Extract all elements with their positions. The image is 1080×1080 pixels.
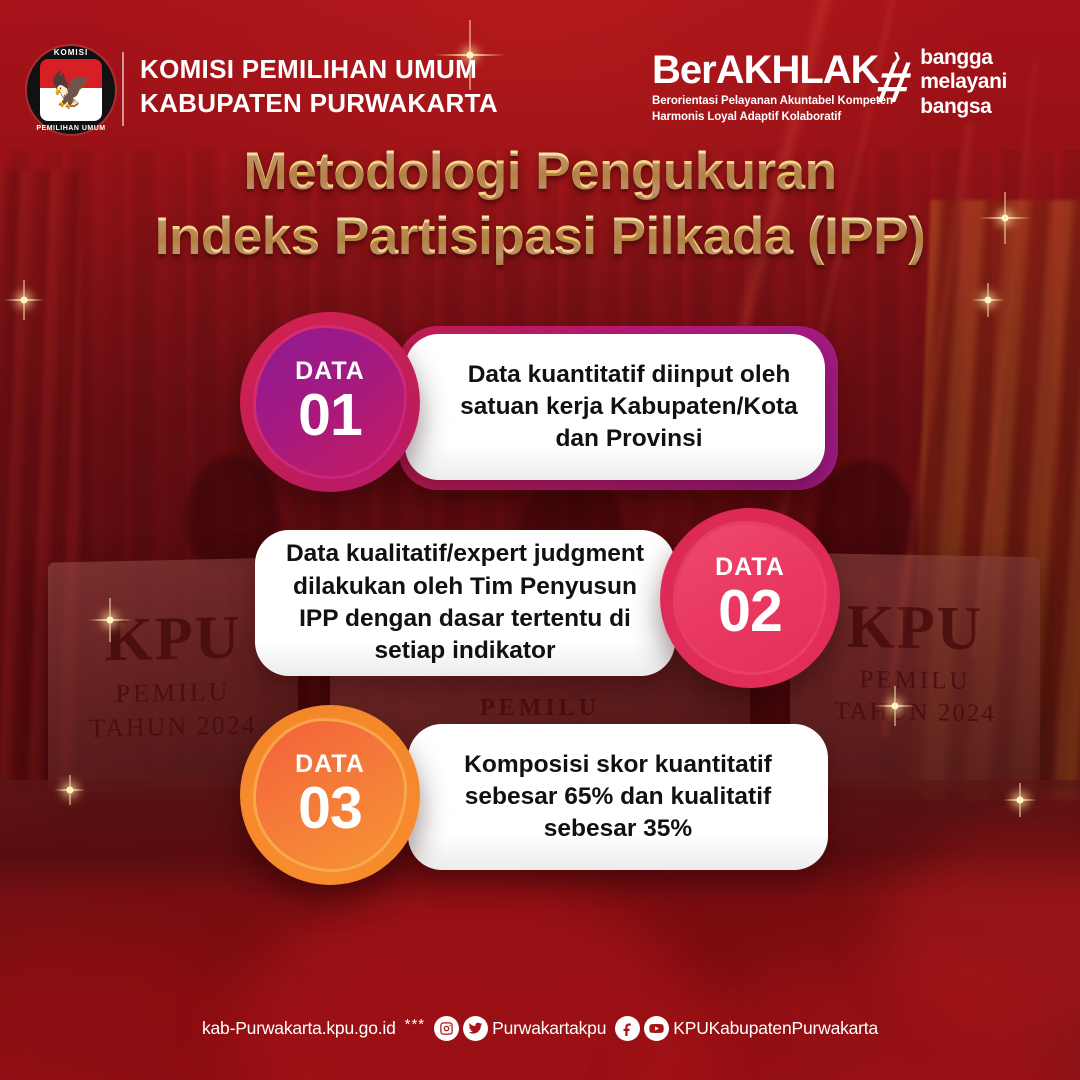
badge-number: 01 xyxy=(298,386,362,445)
badge-number: 03 xyxy=(298,779,362,838)
footer-separator: *** xyxy=(405,1016,426,1033)
data-cards-list: Data kuantitatif diinput oleh satuan ker… xyxy=(0,0,1080,1080)
social-group-2: KPUKabupatenPurwakarta xyxy=(615,1016,878,1041)
data-card-02: Data kualitatif/expert judgment dilakuka… xyxy=(240,508,840,698)
social-handle-1[interactable]: Purwakartakpu xyxy=(492,1018,606,1039)
instagram-icon[interactable] xyxy=(434,1016,459,1041)
card-badge: DATA 02 xyxy=(660,508,840,688)
data-card-01: Data kuantitatif diinput oleh satuan ker… xyxy=(240,312,840,502)
card-body: Data kuantitatif diinput oleh satuan ker… xyxy=(405,334,825,480)
social-group-1: Purwakartakpu xyxy=(434,1016,606,1041)
data-card-03: Komposisi skor kuantitatif sebesar 65% d… xyxy=(240,702,840,894)
facebook-icon[interactable] xyxy=(615,1016,640,1041)
card-badge: DATA 01 xyxy=(240,312,420,492)
card-badge: DATA 03 xyxy=(240,705,420,885)
youtube-icon[interactable] xyxy=(644,1016,669,1041)
badge-number: 02 xyxy=(718,582,782,641)
social-handle-2[interactable]: KPUKabupatenPurwakarta xyxy=(673,1018,878,1039)
card-text: Komposisi skor kuantitatif sebesar 65% d… xyxy=(408,749,828,846)
poster-canvas: KPU PEMILU TAHUN 2024 PEMILU KPU PEMILU … xyxy=(0,0,1080,1080)
badge-label: DATA xyxy=(715,555,785,580)
website-url[interactable]: kab-Purwakarta.kpu.go.id xyxy=(202,1018,396,1039)
badge-label: DATA xyxy=(295,752,365,777)
card-text: Data kualitatif/expert judgment dilakuka… xyxy=(255,538,675,667)
card-text: Data kuantitatif diinput oleh satuan ker… xyxy=(405,359,825,456)
badge-label: DATA xyxy=(295,359,365,384)
footer-contact-bar: kab-Purwakarta.kpu.go.id *** Purwakartak… xyxy=(0,1016,1080,1041)
card-body: Data kualitatif/expert judgment dilakuka… xyxy=(255,530,675,676)
card-body: Komposisi skor kuantitatif sebesar 65% d… xyxy=(408,724,828,870)
twitter-icon[interactable] xyxy=(463,1016,488,1041)
